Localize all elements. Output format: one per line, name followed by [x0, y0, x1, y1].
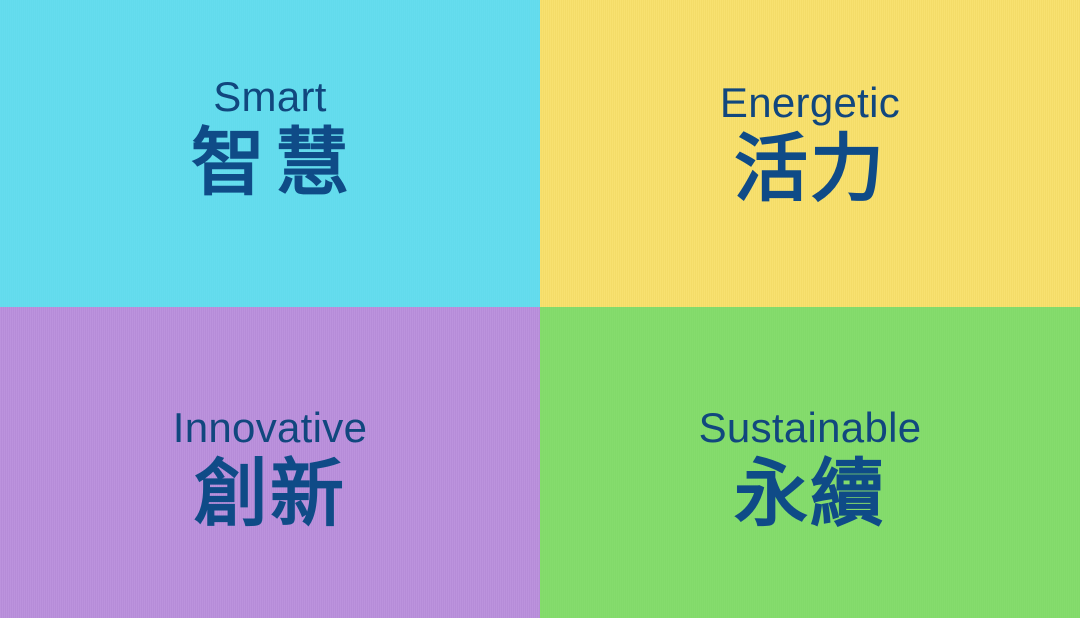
quadrant-chinese-label-sustainable: 永續 [734, 457, 886, 531]
quadrant-chinese-label-energetic: 活力 [734, 132, 886, 206]
label-stack-energetic: Energetic 活力 [720, 82, 900, 206]
quadrant-innovative: Innovative 創新 [0, 307, 540, 618]
quadrant-english-label-innovative: Innovative [173, 407, 367, 449]
quadrant-chinese-label-innovative: 創新 [194, 457, 346, 531]
label-stack-smart: Smart 智慧 [181, 76, 359, 200]
quadrant-english-label-smart: Smart [213, 76, 327, 118]
quadrant-board: Smart 智慧 Energetic 活力 Innovative 創新 Sust… [0, 0, 1080, 618]
label-stack-innovative: Innovative 創新 [173, 407, 367, 531]
label-stack-sustainable: Sustainable 永續 [699, 407, 922, 531]
quadrant-energetic: Energetic 活力 [540, 0, 1080, 307]
quadrant-english-label-sustainable: Sustainable [699, 407, 922, 449]
quadrant-chinese-label-smart: 智慧 [181, 126, 359, 200]
quadrant-smart: Smart 智慧 [0, 0, 540, 307]
quadrant-sustainable: Sustainable 永續 [540, 307, 1080, 618]
quadrant-english-label-energetic: Energetic [720, 82, 900, 124]
